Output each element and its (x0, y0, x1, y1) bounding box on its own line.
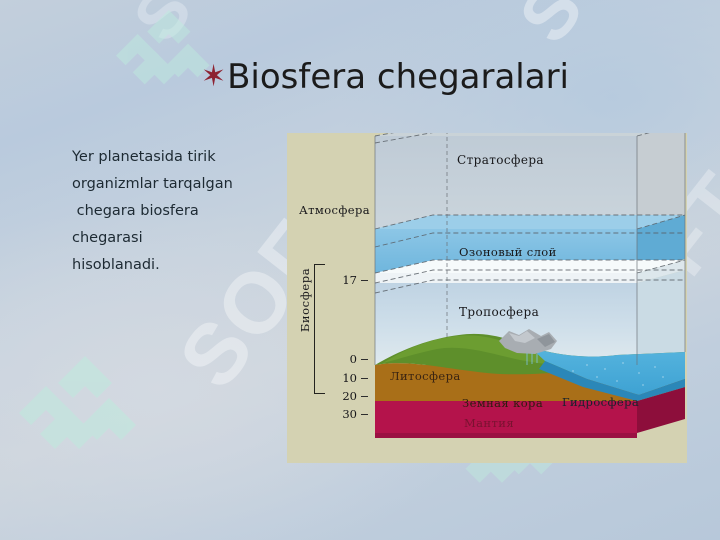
label-litosfera: Литосфера (390, 369, 461, 383)
asterisk-bullet-icon: ✶ (201, 62, 226, 92)
body-line: organizmlar tarqalgan (72, 171, 277, 198)
axis-tick-10: 10 (335, 371, 357, 385)
tick-mark (361, 359, 368, 360)
label-gidrosfera: Гидросфера (562, 395, 639, 409)
label-atmosfera: Атмосфера (299, 203, 370, 217)
label-troposfera: Тропосфера (459, 305, 539, 319)
axis-tick-20: 20 (335, 389, 357, 403)
body-paragraph: Yer planetasida tirik organizmlar tarqal… (72, 144, 277, 279)
tick-mark (361, 396, 368, 397)
tick-mark (361, 414, 368, 415)
axis-tick-30: 30 (335, 407, 357, 421)
body-line: chegara biosfera (72, 198, 277, 225)
title-text: Biosfera chegaralari (227, 58, 569, 97)
label-ozone-layer: Озоновый слой (459, 245, 557, 259)
biosfera-bracket (314, 264, 325, 394)
label-stratosfera: Стратосфера (457, 153, 544, 167)
tick-mark (361, 280, 368, 281)
label-biosfera: Биосфера (298, 268, 312, 332)
biosphere-diagram: 17 0 10 20 30 Биосфера Атмосфера Стратос… (287, 133, 687, 463)
presentation-slide: SOFT SOFT SOFT SOFT (0, 0, 720, 540)
body-line: chegarasi (72, 225, 277, 252)
axis-tick-0: 0 (335, 352, 357, 366)
label-zemnaya-kora: Земная кора (462, 396, 543, 410)
body-line: Yer planetasida tirik (72, 144, 277, 171)
tick-mark (361, 378, 368, 379)
page-title: ✶ Biosfera chegaralari (150, 58, 620, 116)
watermark-text: SOFT (118, 0, 296, 56)
label-mantiya: Мантия (464, 416, 514, 430)
axis-tick-17: 17 (335, 273, 357, 287)
watermark-logo-icon (4, 356, 154, 506)
watermark-text: SOFT (502, 0, 695, 58)
body-line: hisoblanadi. (72, 252, 277, 279)
